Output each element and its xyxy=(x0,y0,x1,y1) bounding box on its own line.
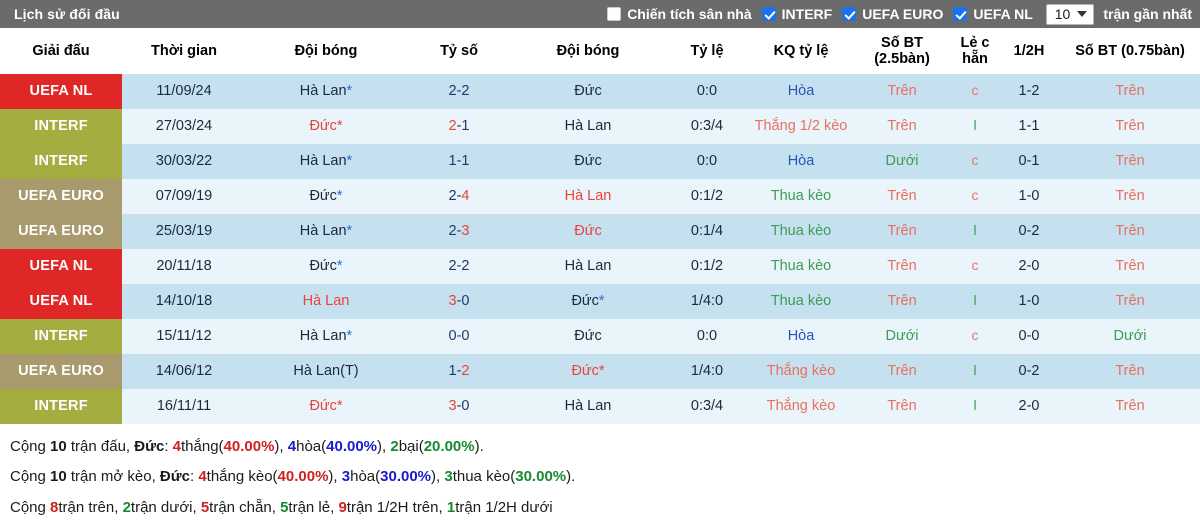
cell-over-under-25: Trên xyxy=(852,354,952,389)
cell-league: UEFA EURO xyxy=(0,179,122,214)
cell-half-time: 1-0 xyxy=(998,284,1060,319)
sum1-losses-close: ). xyxy=(475,438,484,455)
filter-label-uefa-euro: UEFA EURO xyxy=(862,6,943,22)
cell-league: INTERF xyxy=(0,109,122,144)
cell-over-under-25: Dưới xyxy=(852,144,952,179)
sum2-count: 10 xyxy=(50,468,67,485)
cell-score: 3-0 xyxy=(406,284,512,319)
cell-half-time: 0-1 xyxy=(998,144,1060,179)
sum2-wins: 4 xyxy=(198,468,206,485)
sum2-losses: 3 xyxy=(444,468,452,485)
cell-date: 25/03/19 xyxy=(122,214,246,249)
cell-over-under-075: Trên xyxy=(1060,214,1200,249)
table-body: UEFA NL11/09/24Hà Lan*2-2Đức0:0HòaTrênc1… xyxy=(0,74,1200,424)
cell-over-under-075: Trên xyxy=(1060,144,1200,179)
sum3-under-word: trận dưới, xyxy=(131,499,201,516)
col-header-over-under-25[interactable]: Số BT (2.5bàn) xyxy=(852,28,952,74)
cell-odds: 1/4:0 xyxy=(664,354,750,389)
sum1-wins: 4 xyxy=(173,438,181,455)
sum2-draws-close: ), xyxy=(431,468,444,485)
cell-score: 2-2 xyxy=(406,249,512,284)
sum3-ht-under: 1 xyxy=(447,499,455,516)
cell-away-team: Đức xyxy=(512,319,664,354)
sum3-ht-under-word: trận 1/2H dưới xyxy=(455,499,552,516)
cell-league: INTERF xyxy=(0,389,122,424)
cell-score: 2-4 xyxy=(406,179,512,214)
cell-half-time: 2-0 xyxy=(998,389,1060,424)
cell-date: 11/09/24 xyxy=(122,74,246,109)
cell-odd-even: c xyxy=(952,319,998,354)
sum1-colon: : xyxy=(164,438,172,455)
sum1-team: Đức xyxy=(134,438,164,455)
sum1-losses: 2 xyxy=(390,438,398,455)
sum3-under: 2 xyxy=(123,499,131,516)
cell-away-team: Đức* xyxy=(512,284,664,319)
cell-odds-result: Thua kèo xyxy=(750,179,852,214)
recent-matches-label: trận gần nhất xyxy=(1103,6,1192,22)
summary-line-totals: Cộng 8trận trên, 2trận dưới, 5trận chẵn,… xyxy=(10,493,1190,522)
cell-half-time: 0-2 xyxy=(998,354,1060,389)
cell-score: 1-2 xyxy=(406,354,512,389)
sum1-prefix: Cộng xyxy=(10,438,50,455)
cell-odd-even: c xyxy=(952,144,998,179)
sum1-losses-pct: 20.00% xyxy=(424,438,475,455)
sum3-even-word: trận chẵn, xyxy=(209,499,280,516)
cell-odds-result: Hòa xyxy=(750,319,852,354)
col-header-odds[interactable]: Tỷ lệ xyxy=(664,28,750,74)
summary-line-handicap: Cộng 10 trận mở kèo, Đức: 4thắng kèo(40.… xyxy=(10,462,1190,491)
panel-title: Lịch sử đối đầu xyxy=(14,6,120,22)
sum2-draws: 3 xyxy=(342,468,350,485)
cell-league: UEFA EURO xyxy=(0,354,122,389)
table-row[interactable]: UEFA EURO25/03/19Hà Lan*2-3Đức0:1/4Thua … xyxy=(0,214,1200,249)
cell-score: 1-1 xyxy=(406,144,512,179)
cell-odd-even: c xyxy=(952,179,998,214)
cell-odd-even: l xyxy=(952,354,998,389)
cell-home-team: Hà Lan* xyxy=(246,319,406,354)
filter-checkbox-uefa-euro[interactable] xyxy=(842,7,856,21)
cell-odds: 0:0 xyxy=(664,74,750,109)
table-row[interactable]: UEFA NL11/09/24Hà Lan*2-2Đức0:0HòaTrênc1… xyxy=(0,74,1200,109)
sum3-even: 5 xyxy=(201,499,209,516)
cell-half-time: 1-2 xyxy=(998,74,1060,109)
cell-odd-even: l xyxy=(952,389,998,424)
sum2-team: Đức xyxy=(160,468,190,485)
cell-league: UEFA NL xyxy=(0,249,122,284)
cell-league: UEFA NL xyxy=(0,74,122,109)
col-header-away-team[interactable]: Đội bóng xyxy=(512,28,664,74)
cell-odd-even: l xyxy=(952,109,998,144)
cell-home-team: Hà Lan* xyxy=(246,74,406,109)
cell-odds-result: Hòa xyxy=(750,144,852,179)
cell-away-team: Hà Lan xyxy=(512,109,664,144)
cell-away-team: Hà Lan xyxy=(512,179,664,214)
cell-date: 16/11/11 xyxy=(122,389,246,424)
cell-over-under-25: Trên xyxy=(852,179,952,214)
summary-line-matches: Cộng 10 trận đấu, Đức: 4thắng(40.00%), 4… xyxy=(10,432,1190,461)
home-record-checkbox[interactable] xyxy=(607,7,621,21)
table-row[interactable]: INTERF27/03/24Đức*2-1Hà Lan0:3/4Thắng 1/… xyxy=(0,109,1200,144)
sum1-wins-pct: 40.00% xyxy=(224,438,275,455)
cell-odd-even: c xyxy=(952,249,998,284)
sum3-ht-over: 9 xyxy=(338,499,346,516)
sum2-losses-pct: 30.00% xyxy=(515,468,566,485)
match-count-value: 10 xyxy=(1055,6,1071,22)
filter-checkbox-uefa-nl[interactable] xyxy=(953,7,967,21)
cell-odds: 0:0 xyxy=(664,319,750,354)
table-row[interactable]: UEFA NL20/11/18Đức*2-2Hà Lan0:1/2Thua kè… xyxy=(0,249,1200,284)
cell-over-under-25: Trên xyxy=(852,284,952,319)
cell-over-under-25: Trên xyxy=(852,249,952,284)
history-toolbar: Lịch sử đối đầu Chiến tích sân nhà INTER… xyxy=(0,0,1200,28)
filter-label-interf: INTERF xyxy=(782,6,833,22)
table-row[interactable]: INTERF15/11/12Hà Lan*0-0Đức0:0HòaDướic0-… xyxy=(0,319,1200,354)
cell-odds: 0:1/4 xyxy=(664,214,750,249)
cell-odds-result: Thua kèo xyxy=(750,214,852,249)
sum2-draws-pct: 30.00% xyxy=(380,468,431,485)
cell-odd-even: l xyxy=(952,214,998,249)
cell-league: UEFA NL xyxy=(0,284,122,319)
cell-half-time: 1-0 xyxy=(998,179,1060,214)
cell-odds: 0:1/2 xyxy=(664,179,750,214)
table-row[interactable]: UEFA EURO07/09/19Đức*2-4Hà Lan0:1/2Thua … xyxy=(0,179,1200,214)
cell-over-under-25: Trên xyxy=(852,109,952,144)
sum1-draws-close: ), xyxy=(377,438,390,455)
cell-over-under-075: Dưới xyxy=(1060,319,1200,354)
cell-odd-even: c xyxy=(952,74,998,109)
cell-date: 20/11/18 xyxy=(122,249,246,284)
sum1-wins-close: ), xyxy=(274,438,287,455)
cell-odds: 1/4:0 xyxy=(664,284,750,319)
cell-odds: 0:3/4 xyxy=(664,389,750,424)
cell-odds-result: Thắng kèo xyxy=(750,354,852,389)
cell-home-team: Đức* xyxy=(246,179,406,214)
cell-date: 27/03/24 xyxy=(122,109,246,144)
cell-league: UEFA EURO xyxy=(0,214,122,249)
cell-score: 0-0 xyxy=(406,319,512,354)
cell-away-team: Đức xyxy=(512,214,664,249)
sum3-over-word: trận trên, xyxy=(58,499,122,516)
sum1-draws-word: hòa( xyxy=(296,438,326,455)
sum2-prefix: Cộng xyxy=(10,468,50,485)
table-row[interactable]: UEFA NL14/10/18Hà Lan3-0Đức*1/4:0Thua kè… xyxy=(0,284,1200,319)
cell-away-team: Hà Lan xyxy=(512,389,664,424)
table-row[interactable]: INTERF16/11/11Đức*3-0Hà Lan0:3/4Thắng kè… xyxy=(0,389,1200,424)
cell-home-team: Hà Lan* xyxy=(246,144,406,179)
sum1-wins-word: thắng( xyxy=(181,438,224,455)
cell-over-under-25: Trên xyxy=(852,214,952,249)
cell-date: 14/06/12 xyxy=(122,354,246,389)
cell-over-under-075: Trên xyxy=(1060,74,1200,109)
cell-over-under-25: Trên xyxy=(852,74,952,109)
cell-home-team: Hà Lan(T) xyxy=(246,354,406,389)
cell-league: INTERF xyxy=(0,144,122,179)
cell-score: 2-3 xyxy=(406,214,512,249)
cell-odds-result: Thắng 1/2 kèo xyxy=(750,109,852,144)
summary-block: Cộng 10 trận đấu, Đức: 4thắng(40.00%), 4… xyxy=(0,424,1200,522)
cell-over-under-25: Dưới xyxy=(852,319,952,354)
match-count-select[interactable]: 10 xyxy=(1046,4,1095,25)
cell-date: 15/11/12 xyxy=(122,319,246,354)
cell-odds-result: Thắng kèo xyxy=(750,389,852,424)
cell-away-team: Đức xyxy=(512,74,664,109)
toolbar-filters: Chiến tích sân nhà INTERF UEFA EURO UEFA… xyxy=(607,4,1192,25)
sum2-wins-close: ), xyxy=(328,468,341,485)
sum1-draws-pct: 40.00% xyxy=(326,438,377,455)
cell-half-time: 0-0 xyxy=(998,319,1060,354)
cell-over-under-075: Trên xyxy=(1060,249,1200,284)
sum2-wins-word: thắng kèo( xyxy=(207,468,278,485)
cell-odds-result: Hòa xyxy=(750,74,852,109)
cell-home-team: Đức* xyxy=(246,249,406,284)
cell-half-time: 2-0 xyxy=(998,249,1060,284)
sum2-draws-word: hòa( xyxy=(350,468,380,485)
cell-odds-result: Thua kèo xyxy=(750,249,852,284)
cell-away-team: Đức* xyxy=(512,354,664,389)
filter-checkbox-interf[interactable] xyxy=(762,7,776,21)
col-header-score[interactable]: Tỷ số xyxy=(406,28,512,74)
cell-home-team: Đức* xyxy=(246,109,406,144)
col-header-over-under-075[interactable]: Số BT (0.75bàn) xyxy=(1060,28,1200,74)
col-header-home-team[interactable]: Đội bóng xyxy=(246,28,406,74)
cell-score: 2-2 xyxy=(406,74,512,109)
table-row[interactable]: UEFA EURO14/06/12Hà Lan(T)1-2Đức*1/4:0Th… xyxy=(0,354,1200,389)
cell-score: 2-1 xyxy=(406,109,512,144)
cell-over-under-075: Trên xyxy=(1060,179,1200,214)
sum1-losses-word: bại( xyxy=(399,438,424,455)
head-to-head-table: Giải đấu Thời gian Đội bóng Tỷ số Đội bó… xyxy=(0,28,1200,424)
cell-date: 14/10/18 xyxy=(122,284,246,319)
filter-label-uefa-nl: UEFA NL xyxy=(973,6,1032,22)
col-header-half-time[interactable]: 1/2H xyxy=(998,28,1060,74)
home-record-label: Chiến tích sân nhà xyxy=(627,6,751,22)
sum3-prefix: Cộng xyxy=(10,499,50,516)
col-header-odd-even[interactable]: Lẻ c hẵn xyxy=(952,28,998,74)
sum2-losses-word: thua kèo( xyxy=(453,468,516,485)
cell-odds-result: Thua kèo xyxy=(750,284,852,319)
chevron-down-icon xyxy=(1077,11,1087,17)
cell-odds: 0:3/4 xyxy=(664,109,750,144)
cell-date: 07/09/19 xyxy=(122,179,246,214)
sum2-losses-close: ). xyxy=(566,468,575,485)
col-header-time[interactable]: Thời gian xyxy=(122,28,246,74)
sum2-mid: trận mở kèo, xyxy=(67,468,160,485)
cell-over-under-075: Trên xyxy=(1060,109,1200,144)
cell-date: 30/03/22 xyxy=(122,144,246,179)
sum2-wins-pct: 40.00% xyxy=(278,468,329,485)
cell-over-under-075: Trên xyxy=(1060,284,1200,319)
cell-half-time: 0-2 xyxy=(998,214,1060,249)
sum3-odd-word: trận lẻ, xyxy=(288,499,338,516)
cell-home-team: Hà Lan* xyxy=(246,214,406,249)
cell-away-team: Đức xyxy=(512,144,664,179)
cell-odds: 0:0 xyxy=(664,144,750,179)
cell-odds: 0:1/2 xyxy=(664,249,750,284)
cell-home-team: Đức* xyxy=(246,389,406,424)
sum3-ht-over-word: trận 1/2H trên, xyxy=(347,499,447,516)
col-header-league[interactable]: Giải đấu xyxy=(0,28,122,74)
cell-home-team: Hà Lan xyxy=(246,284,406,319)
col-header-odds-result[interactable]: KQ tỷ lệ xyxy=(750,28,852,74)
cell-league: INTERF xyxy=(0,319,122,354)
sum1-draws: 4 xyxy=(288,438,296,455)
cell-over-under-075: Trên xyxy=(1060,354,1200,389)
cell-half-time: 1-1 xyxy=(998,109,1060,144)
cell-score: 3-0 xyxy=(406,389,512,424)
cell-odd-even: l xyxy=(952,284,998,319)
cell-over-under-25: Trên xyxy=(852,389,952,424)
cell-away-team: Hà Lan xyxy=(512,249,664,284)
sum1-count: 10 xyxy=(50,438,67,455)
sum1-mid: trận đấu, xyxy=(67,438,135,455)
table-header-row: Giải đấu Thời gian Đội bóng Tỷ số Đội bó… xyxy=(0,28,1200,74)
table-row[interactable]: INTERF30/03/22Hà Lan*1-1Đức0:0HòaDướic0-… xyxy=(0,144,1200,179)
cell-over-under-075: Trên xyxy=(1060,389,1200,424)
